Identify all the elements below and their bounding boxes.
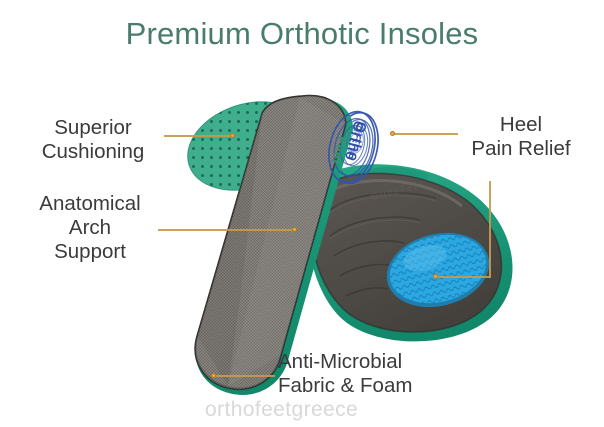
leader-line-gel-pad-vertical [489,181,491,277]
leader-dot-anti-microbial [211,373,216,378]
leader-line-superior-cushioning [164,135,232,137]
leader-dot-superior-cushioning [230,133,235,138]
leader-line-arch-support [158,229,295,231]
leader-dot-gel-pad [433,274,438,279]
callout-anti-microbial-fabric-foam: Anti-Microbial Fabric & Foam [278,350,488,398]
callout-heel-pain-relief: Heel Pain Relief [446,113,596,161]
leader-line-gel-pad-horizontal [436,276,491,278]
site-watermark: orthofeetgreece [205,398,358,422]
page-title: Premium Orthotic Insoles [0,15,604,52]
leader-dot-heel-pain-relief [390,131,395,136]
callout-anatomical-arch-support: Anatomical Arch Support [10,192,170,263]
insole-infographic: OrthoFeet [0,0,604,427]
leader-dot-arch-support [292,227,297,232]
leader-line-anti-microbial [215,375,275,377]
callout-superior-cushioning: Superior Cushioning [18,116,168,164]
